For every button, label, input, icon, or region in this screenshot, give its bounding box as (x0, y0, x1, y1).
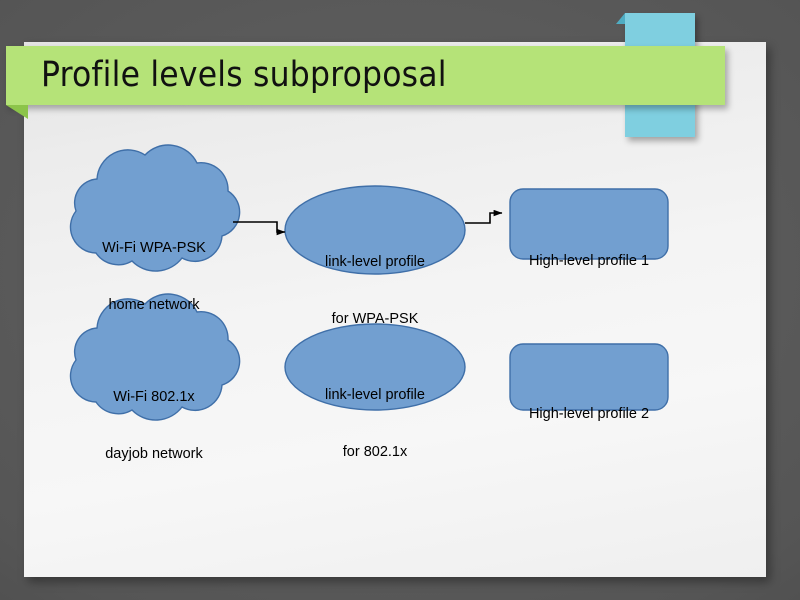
diagram-canvas: Wi-Fi WPA-PSK home network link-level pr… (0, 0, 800, 600)
ellipse-wpa-psk-label: link-level profile for WPA-PSK (297, 215, 453, 367)
cloud-8021x-label-line2: dayjob network (76, 445, 232, 464)
ellipse-8021x-label-line2: for 802.1x (297, 443, 453, 462)
connector-cloud-to-ellipse-wpa[interactable] (233, 222, 285, 232)
ellipse-wpa-psk-label-line1: link-level profile (297, 253, 453, 272)
cloud-8021x-label-line1: Wi-Fi 802.1x (76, 388, 232, 407)
cloud-wpa-psk-label-line1: Wi-Fi WPA-PSK (76, 239, 232, 258)
high-level-profile-1-label-line1: High-level profile 1 (511, 252, 667, 271)
high-level-profile-2-label: High-level profile 2 (511, 367, 667, 462)
high-level-profile-2-label-line1: High-level profile 2 (511, 405, 667, 424)
ellipse-8021x-label-line1: link-level profile (297, 386, 453, 405)
ellipse-8021x-label: link-level profile for 802.1x (297, 348, 453, 500)
cloud-wpa-psk-label-line2: home network (76, 296, 232, 315)
connector-ellipse-to-box-high1[interactable] (465, 213, 502, 223)
presentation-window: Profile levels subproposal (0, 0, 800, 600)
cloud-8021x-label: Wi-Fi 802.1x dayjob network (76, 350, 232, 502)
ellipse-wpa-psk-label-line2: for WPA-PSK (297, 310, 453, 329)
cloud-wpa-psk-label: Wi-Fi WPA-PSK home network (76, 201, 232, 353)
high-level-profile-1-label: High-level profile 1 (511, 214, 667, 309)
